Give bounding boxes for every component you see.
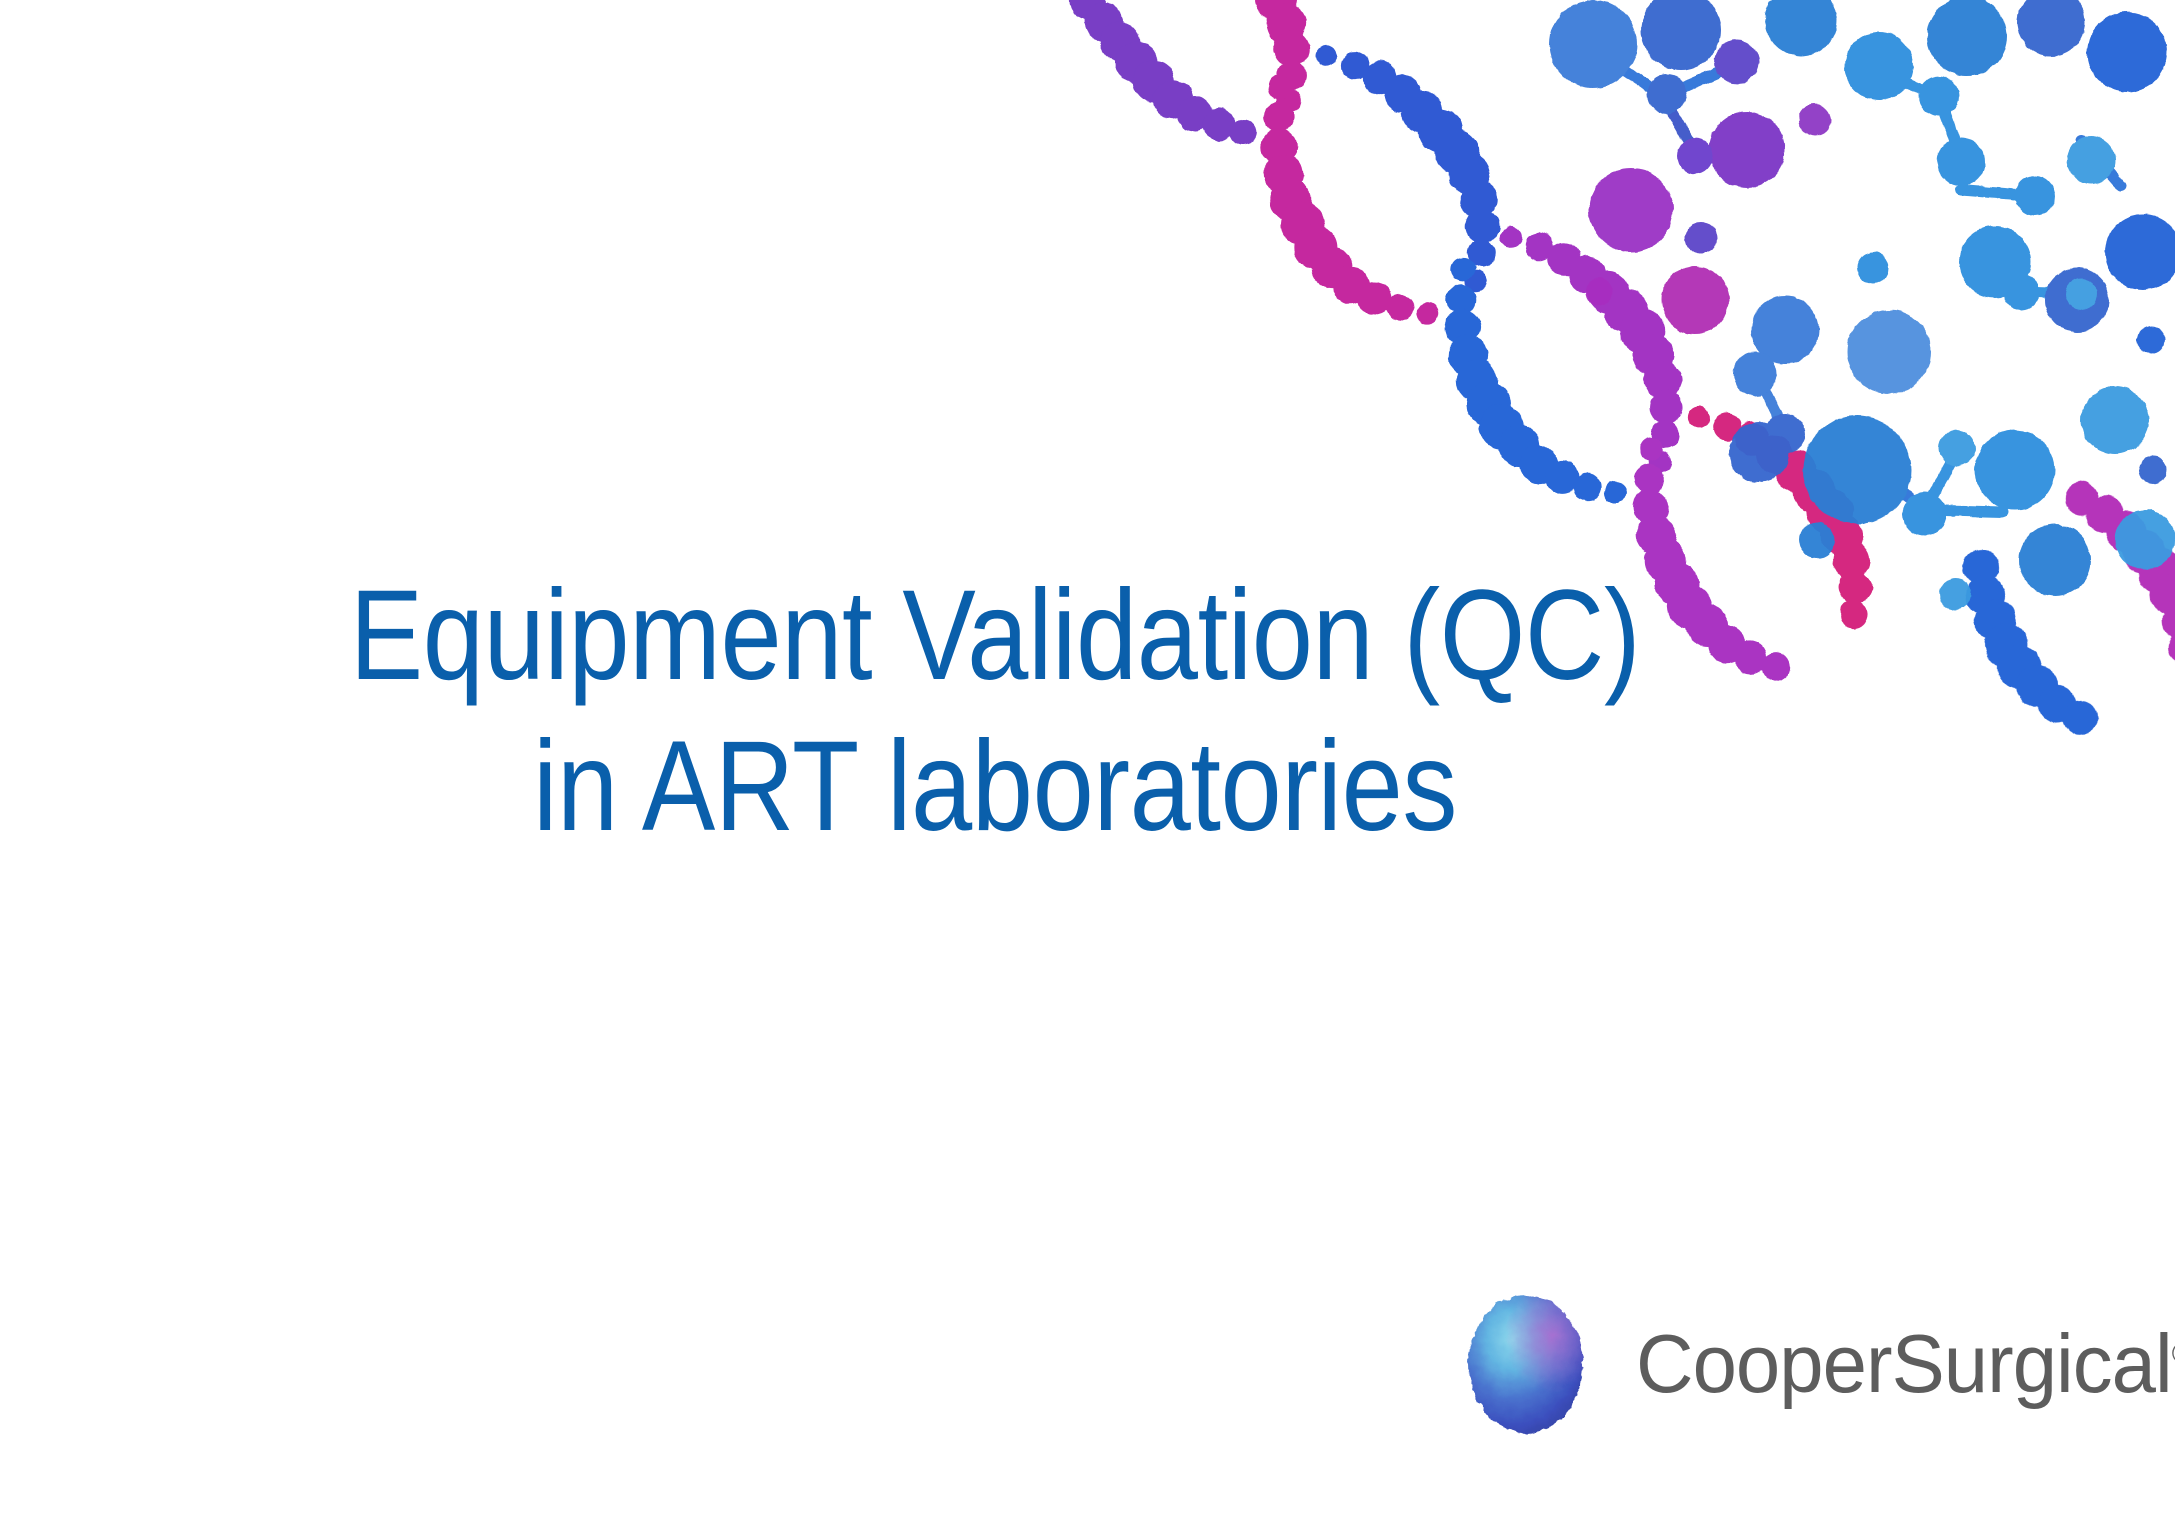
coopersurgical-wordmark: CooperSurgical® — [1636, 1322, 2175, 1405]
coopersurgical-logo: CooperSurgical® — [1462, 1288, 2175, 1438]
title-line-1: Equipment Validation (QC) — [139, 560, 1850, 711]
coopersurgical-sphere-icon — [1462, 1288, 1590, 1438]
slide-title: Equipment Validation (QC) in ART laborat… — [0, 560, 1990, 862]
slide-canvas: Equipment Validation (QC) in ART laborat… — [0, 0, 2175, 1521]
title-line-2: in ART laboratories — [139, 711, 1850, 862]
wordmark-text: CooperSurgical — [1636, 1317, 2172, 1410]
